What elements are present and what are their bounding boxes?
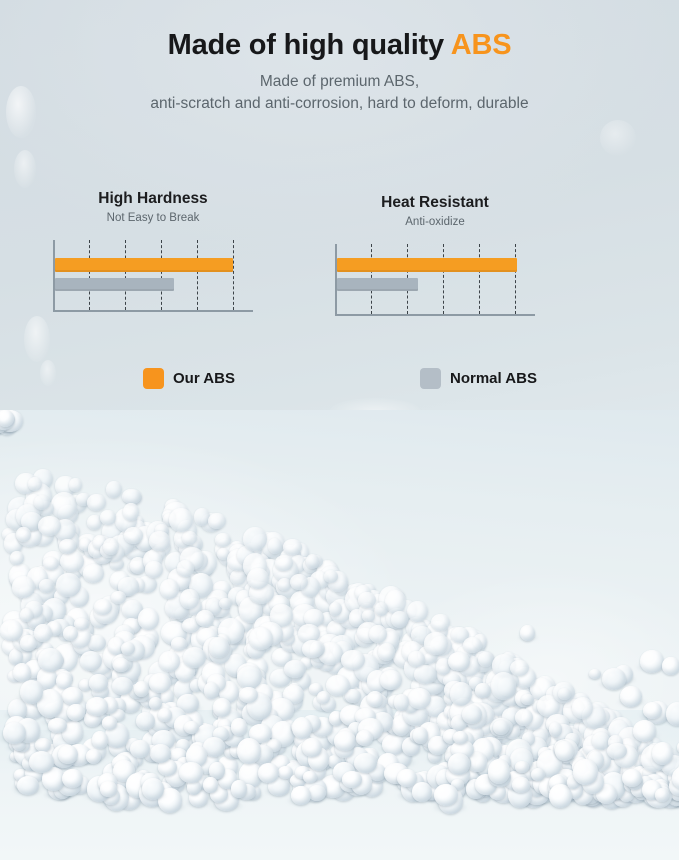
abs-pellet <box>60 551 84 572</box>
abs-pellet <box>424 632 448 655</box>
gridline <box>443 244 444 314</box>
abs-pellet <box>87 494 106 511</box>
legend-item-our-abs: Our ABS <box>143 368 235 389</box>
abs-pellet <box>213 698 232 717</box>
abs-pellet <box>448 753 471 775</box>
abs-pellet <box>558 688 572 699</box>
page-subtitle: Made of premium ABS, anti-scratch and an… <box>0 62 679 116</box>
abs-pellet <box>10 551 25 566</box>
chart-title: Heat Resistant <box>290 194 580 213</box>
abs-pellet <box>408 688 431 709</box>
abs-pellet <box>284 660 306 678</box>
abs-pellet <box>169 508 194 533</box>
abs-pellet <box>138 608 160 630</box>
abs-pellet <box>124 527 143 543</box>
background-bokeh <box>600 120 636 156</box>
abs-pellet <box>555 741 575 761</box>
page-title-main: Made of high quality <box>168 29 451 61</box>
gridline <box>233 240 234 310</box>
abs-pellet <box>463 637 482 653</box>
abs-pellet <box>475 683 491 699</box>
abs-pellet <box>209 637 229 657</box>
abs-pellet <box>231 780 247 798</box>
abs-pellet <box>92 731 108 748</box>
abs-pellet <box>515 761 529 773</box>
abs-pellet <box>204 682 220 700</box>
abs-pellet <box>145 561 163 578</box>
page-title: Made of high quality ABS <box>0 0 679 62</box>
header: Made of high quality ABS Made of premium… <box>0 0 679 116</box>
abs-pellet <box>208 513 226 529</box>
gridline <box>161 240 162 310</box>
x-axis <box>335 314 535 316</box>
bar-normal-abs <box>55 278 174 291</box>
abs-pellet <box>100 510 116 525</box>
abs-pellet <box>292 717 312 739</box>
abs-pellet <box>258 763 279 783</box>
abs-pellet <box>622 769 642 787</box>
abs-pellet <box>183 647 207 668</box>
chart-subtitle: Not Easy to Break <box>8 209 298 226</box>
abs-pellet <box>407 601 428 622</box>
page-title-accent: ABS <box>451 29 512 61</box>
plot-area <box>53 240 253 312</box>
gridline <box>89 240 90 310</box>
abs-pellet <box>86 697 109 716</box>
abs-pellet <box>130 740 150 758</box>
abs-pellet <box>521 694 534 705</box>
abs-pellet <box>291 786 311 805</box>
abs-pellet <box>237 738 261 764</box>
abs-pellet <box>512 777 530 793</box>
abs-pellet <box>136 712 155 730</box>
abs-pellet <box>180 589 199 610</box>
chart-subtitle: Anti-oxidize <box>290 213 580 230</box>
abs-pellet <box>303 771 316 784</box>
legend-item-normal-abs: Normal ABS <box>420 368 537 389</box>
chart-heat-resistant: Heat Resistant Anti-oxidize <box>290 194 580 316</box>
abs-pellet <box>219 598 232 609</box>
abs-pellet <box>150 744 171 763</box>
abs-pellet <box>59 539 76 555</box>
abs-pellet <box>142 778 163 800</box>
abs-pellet <box>177 560 194 577</box>
abs-pellet <box>633 720 656 742</box>
abs-pellet <box>302 640 324 658</box>
gridline <box>125 240 126 310</box>
abs-pellet <box>83 564 104 583</box>
chart-title: High Hardness <box>8 190 298 209</box>
gridline <box>197 240 198 310</box>
abs-pellet <box>306 554 320 569</box>
abs-pellet <box>488 759 510 784</box>
abs-pellet <box>16 527 30 543</box>
abs-pellet <box>239 687 258 703</box>
gridline <box>515 244 516 314</box>
abs-pellet <box>69 478 82 493</box>
abs-pellet <box>324 570 339 583</box>
abs-pellet <box>20 608 33 622</box>
abs-pellet <box>106 481 122 498</box>
abs-pellet <box>448 652 470 672</box>
legend-label: Normal ABS <box>450 370 537 387</box>
page-subtitle-line-2: anti-scratch and anti-corrosion, hard to… <box>150 95 528 112</box>
abs-pellet <box>391 611 408 628</box>
abs-pellet <box>453 731 469 744</box>
abs-pellet <box>362 610 376 622</box>
abs-pellet <box>354 753 377 773</box>
abs-pellet <box>247 568 269 589</box>
abs-pellet <box>380 670 402 689</box>
background-bokeh <box>14 150 36 188</box>
abs-pellet <box>378 643 395 661</box>
abs-pellet <box>160 579 179 599</box>
x-axis <box>53 310 253 312</box>
abs-pellet <box>67 704 84 721</box>
abs-pellet <box>184 721 200 734</box>
abs-pellet <box>491 672 516 699</box>
abs-pellet <box>38 648 63 672</box>
abs-pellets-photo <box>0 410 679 860</box>
page-subtitle-line-1: Made of premium ABS, <box>260 73 419 90</box>
abs-pellet <box>408 651 425 667</box>
abs-pellet <box>80 651 102 671</box>
abs-pellet <box>643 702 662 719</box>
chart-high-hardness: High Hardness Not Easy to Break <box>8 190 298 312</box>
plot-area <box>335 244 535 316</box>
abs-pellet <box>275 555 293 571</box>
abs-pellet <box>179 762 203 783</box>
abs-pellet <box>394 694 410 710</box>
abs-pellet <box>158 708 172 721</box>
abs-pellet <box>358 592 376 608</box>
abs-pellet <box>89 674 109 691</box>
abs-pellet <box>662 657 679 676</box>
abs-pellet <box>326 675 350 696</box>
abs-pellet <box>149 673 171 693</box>
abs-pellet <box>573 759 598 785</box>
abs-pellet <box>196 610 214 627</box>
abs-pellet <box>123 503 139 521</box>
bar-our-abs <box>55 258 233 272</box>
abs-pellet <box>369 625 387 643</box>
abs-pellet <box>572 697 593 719</box>
abs-pellet <box>182 531 197 545</box>
abs-pellet <box>20 680 43 704</box>
abs-pellet <box>462 705 482 724</box>
abs-pellet <box>602 668 626 690</box>
chart-legend: Our ABS Normal ABS <box>0 368 679 398</box>
abs-pellet <box>3 722 26 745</box>
charts-section: High Hardness Not Easy to Break Heat Res… <box>0 190 679 350</box>
abs-pellet <box>51 492 77 519</box>
y-axis <box>53 240 55 312</box>
abs-pellet <box>414 665 437 684</box>
legend-swatch-icon <box>143 368 164 389</box>
abs-pellet <box>134 681 149 697</box>
abs-pellet <box>102 716 117 730</box>
abs-pellet <box>28 477 42 492</box>
product-feature-panel: Made of high quality ABS Made of premium… <box>0 0 679 860</box>
legend-swatch-icon <box>420 368 441 389</box>
abs-pellet <box>100 781 118 797</box>
abs-pellet <box>215 533 231 547</box>
abs-pellet <box>0 620 22 641</box>
abs-pellet <box>94 599 112 615</box>
abs-pellet <box>39 579 54 593</box>
abs-pellet <box>122 489 140 505</box>
abs-pellet <box>43 557 59 571</box>
abs-pellet <box>450 682 472 706</box>
bar-our-abs <box>337 258 517 272</box>
abs-pellet <box>243 527 267 551</box>
legend-label: Our ABS <box>173 370 235 387</box>
abs-pellet <box>268 538 282 554</box>
abs-pellet <box>34 624 52 642</box>
bar-normal-abs <box>337 278 418 291</box>
abs-pellet <box>655 788 669 802</box>
abs-pellet <box>113 658 128 672</box>
gridline <box>479 244 480 314</box>
